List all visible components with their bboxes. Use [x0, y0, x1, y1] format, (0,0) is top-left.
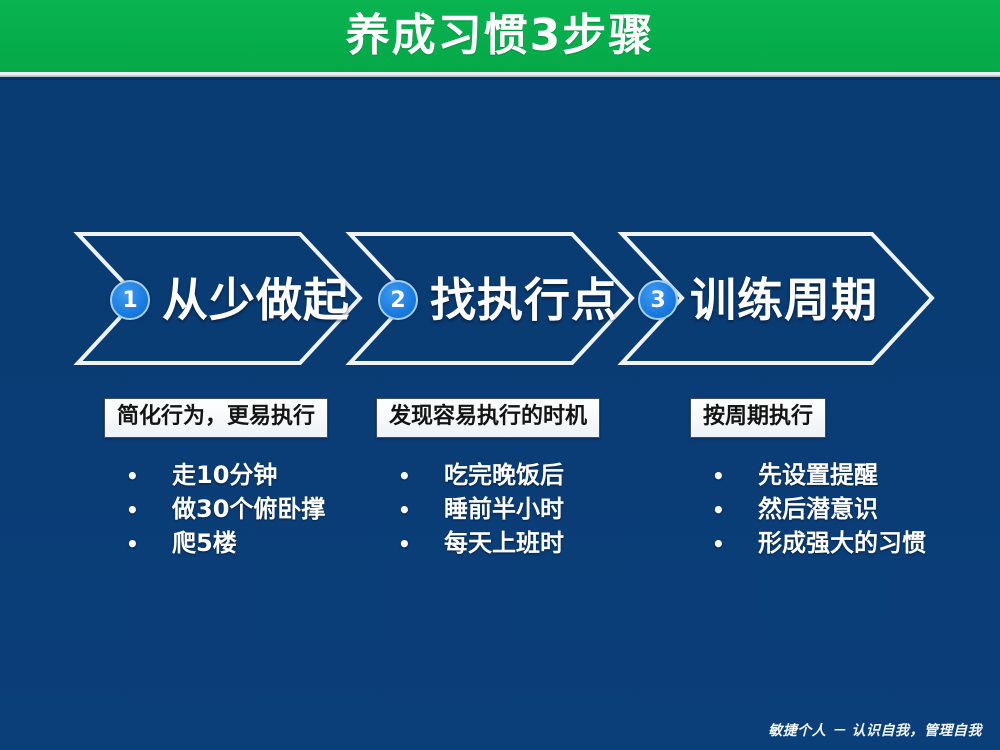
step-label-2: 找执行点 [430, 277, 618, 323]
footer-credit: 敏捷个人 － 认识自我，管理自我 [768, 720, 982, 740]
bullet-list-2: • 吃完晚饭后 • 睡前半小时 • 每天上班时 [376, 458, 600, 560]
bullet-dot-icon: • [376, 462, 428, 490]
bullet-dot-icon: • [690, 530, 742, 558]
list-item: • 然后潜意识 [690, 492, 926, 526]
bullet-text: 走10分钟 [156, 458, 277, 492]
detail-column-3: 按周期执行 • 先设置提醒 • 然后潜意识 • 形成强大的习惯 [690, 398, 926, 560]
bullet-text: 先设置提醒 [742, 458, 878, 492]
step-2[interactable]: 2 找执行点 [378, 230, 618, 370]
bullet-text: 吃完晚饭后 [428, 458, 564, 492]
bullet-list-3: • 先设置提醒 • 然后潜意识 • 形成强大的习惯 [690, 458, 926, 560]
detail-column-2: 发现容易执行的时机 • 吃完晚饭后 • 睡前半小时 • 每天上班时 [376, 398, 600, 560]
column-heading-2: 发现容易执行的时机 [376, 398, 600, 438]
bullet-text: 做30个俯卧撑 [156, 492, 325, 526]
title-banner: 养成习惯3步骤 [0, 0, 1000, 72]
bullet-dot-icon: • [104, 462, 156, 490]
bullet-dot-icon: • [376, 496, 428, 524]
detail-columns: 简化行为，更易执行 • 走10分钟 • 做30个俯卧撑 • 爬5楼 发现容易执行… [0, 398, 1000, 578]
step-number-badge-3: 3 [638, 280, 678, 320]
bullet-dot-icon: • [376, 530, 428, 558]
bullet-dot-icon: • [690, 462, 742, 490]
step-label-1: 从少做起 [162, 277, 350, 323]
detail-column-1: 简化行为，更易执行 • 走10分钟 • 做30个俯卧撑 • 爬5楼 [104, 398, 328, 560]
step-3[interactable]: 3 训练周期 [638, 230, 878, 370]
column-heading-3: 按周期执行 [690, 398, 826, 438]
step-1[interactable]: 1 从少做起 [110, 230, 350, 370]
bullet-dot-icon: • [104, 496, 156, 524]
list-item: • 每天上班时 [376, 526, 600, 560]
bullet-text: 每天上班时 [428, 526, 564, 560]
list-item: • 爬5楼 [104, 526, 328, 560]
bullet-dot-icon: • [690, 496, 742, 524]
bullet-text: 然后潜意识 [742, 492, 878, 526]
process-chevron-band: 1 从少做起 2 找执行点 3 训练周期 [0, 230, 1000, 370]
list-item: • 做30个俯卧撑 [104, 492, 328, 526]
column-heading-1: 简化行为，更易执行 [104, 398, 328, 438]
bullet-text: 睡前半小时 [428, 492, 564, 526]
page-title: 养成习惯3步骤 [346, 14, 655, 58]
list-item: • 睡前半小时 [376, 492, 600, 526]
bullet-list-1: • 走10分钟 • 做30个俯卧撑 • 爬5楼 [104, 458, 328, 560]
bullet-text: 爬5楼 [156, 526, 237, 560]
banner-divider-dark [0, 77, 1000, 80]
list-item: • 吃完晚饭后 [376, 458, 600, 492]
bullet-dot-icon: • [104, 530, 156, 558]
list-item: • 走10分钟 [104, 458, 328, 492]
step-label-3: 训练周期 [690, 277, 878, 323]
step-number-badge-2: 2 [378, 280, 418, 320]
step-number-badge-1: 1 [110, 280, 150, 320]
slide-canvas: 养成习惯3步骤 1 从少做起 2 找执行点 3 训练周期 简化行为，更易执行 [0, 0, 1000, 750]
list-item: • 形成强大的习惯 [690, 526, 926, 560]
bullet-text: 形成强大的习惯 [742, 526, 926, 560]
list-item: • 先设置提醒 [690, 458, 926, 492]
